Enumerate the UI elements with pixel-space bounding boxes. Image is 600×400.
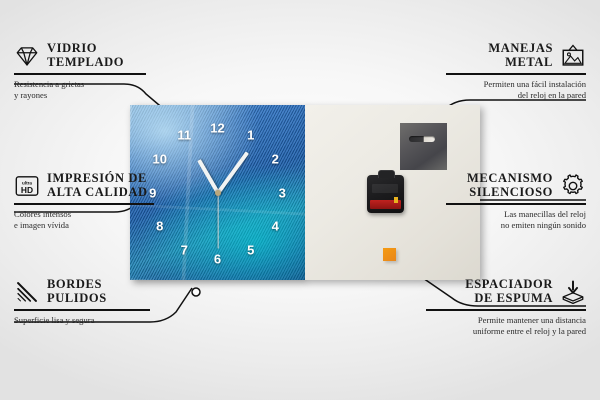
feature-subtitle: Resistencia a grietas y rayones xyxy=(14,79,154,101)
hanger-keyhole-slot xyxy=(409,136,435,142)
feature-bordes-pulidos: BORDES PULIDOS Superficie lisa y segura xyxy=(14,278,154,326)
product-photo-group: 12 1 2 3 4 5 6 7 8 9 10 11 xyxy=(130,105,480,280)
battery-compartment xyxy=(370,200,401,209)
feature-subtitle: Permite mantener una distancia uniforme … xyxy=(426,315,586,337)
clock-numeral: 10 xyxy=(153,153,167,166)
clock-numeral: 1 xyxy=(247,128,254,141)
clock-center-hub xyxy=(215,190,221,196)
movement-hanger-tab xyxy=(378,170,395,178)
feature-rule xyxy=(14,203,154,205)
feature-title: VIDRIO TEMPLADO xyxy=(47,42,124,69)
feature-title: BORDES PULIDOS xyxy=(47,278,107,305)
feature-title: IMPRESIÓN DE ALTA CALIDAD xyxy=(47,172,148,199)
clock-numeral: 12 xyxy=(210,121,224,134)
metal-hanger-plate xyxy=(400,123,447,170)
feature-rule xyxy=(446,73,586,75)
gear-icon xyxy=(560,173,586,199)
clock-numeral: 2 xyxy=(272,153,279,166)
feature-title: MANEJAS METAL xyxy=(488,42,553,69)
clock-numeral: 7 xyxy=(181,244,188,257)
movement-detail xyxy=(372,184,398,193)
framed-picture-hanging-icon xyxy=(560,43,586,69)
feature-impresion-alta-calidad: ultra HD IMPRESIÓN DE ALTA CALIDAD Color… xyxy=(14,172,162,231)
feature-rule xyxy=(446,203,586,205)
feature-rule xyxy=(426,309,586,311)
feature-vidrio-templado: VIDRIO TEMPLADO Resistencia a grietas y … xyxy=(14,42,154,101)
feature-rule xyxy=(14,73,146,75)
diamond-icon xyxy=(14,43,40,69)
feature-title: ESPACIADOR DE ESPUMA xyxy=(465,278,553,305)
feature-title: MECANISMO SILENCIOSO xyxy=(467,172,553,199)
clock-numeral: 5 xyxy=(247,244,254,257)
clock-numeral: 3 xyxy=(279,186,286,199)
feature-subtitle: Colores intensos e imagen vívida xyxy=(14,209,162,231)
polished-edges-icon xyxy=(14,279,40,305)
clock-hour-hand xyxy=(197,159,219,194)
arrow-into-foam-icon xyxy=(560,279,586,305)
clock-minute-hand xyxy=(216,151,249,194)
foam-spacer xyxy=(383,248,396,261)
ultra-hd-icon: ultra HD xyxy=(14,173,40,199)
infographic-canvas: 12 1 2 3 4 5 6 7 8 9 10 11 xyxy=(0,0,600,400)
clock-second-hand xyxy=(217,193,218,249)
feature-subtitle: Las manecillas del reloj no emiten ningú… xyxy=(446,209,586,231)
quartz-movement xyxy=(367,175,404,213)
feature-manejas-metal: MANEJAS METAL Permiten una fácil instala… xyxy=(446,42,586,101)
feature-espaciador-espuma: ESPACIADOR DE ESPUMA Permite mantener un… xyxy=(426,278,586,337)
clock-numeral: 4 xyxy=(272,219,279,232)
feature-subtitle: Superficie lisa y segura xyxy=(14,315,154,326)
clock-numeral: 11 xyxy=(177,128,191,141)
svg-text:HD: HD xyxy=(21,184,33,194)
feature-subtitle: Permiten una fácil instalación del reloj… xyxy=(446,79,586,101)
clock-numeral: 6 xyxy=(214,253,221,266)
feature-rule xyxy=(14,309,150,311)
feature-mecanismo-silencioso: MECANISMO SILENCIOSO Las manecillas del … xyxy=(446,172,586,231)
